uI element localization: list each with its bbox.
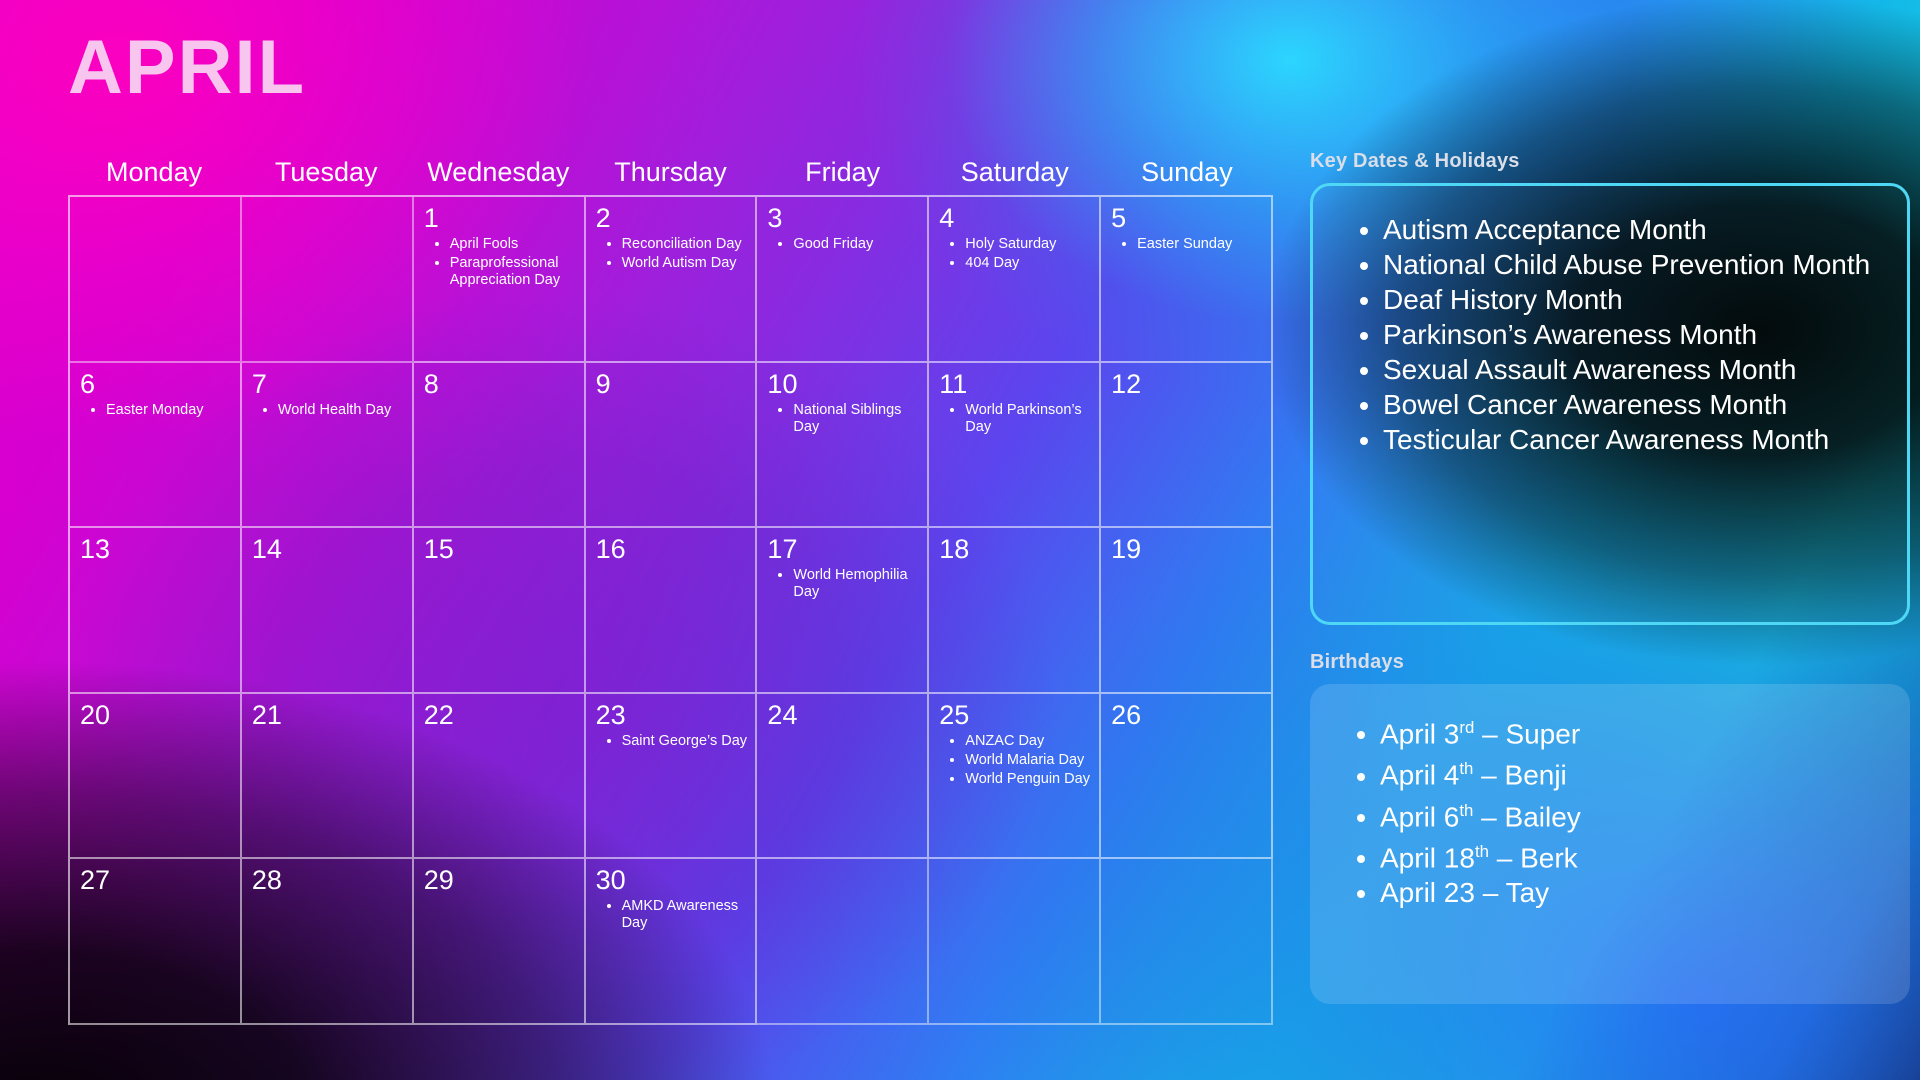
- day-number: 17: [767, 534, 919, 564]
- event-list: World Parkinson’s Day: [965, 401, 1091, 436]
- event-list: Reconciliation DayWorld Autism Day: [622, 235, 748, 272]
- day-number: 10: [767, 369, 919, 399]
- birthday-date: April 4: [1380, 760, 1459, 791]
- event-list: April FoolsParaprofessional Appreciation…: [450, 235, 576, 289]
- birthday-name: Bailey: [1505, 801, 1581, 832]
- calendar-cell[interactable]: 20: [70, 694, 242, 860]
- calendar-cell[interactable]: 19: [1101, 528, 1273, 694]
- day-of-week-header: Sunday: [1101, 155, 1273, 195]
- key-date-item: Autism Acceptance Month: [1383, 212, 1879, 247]
- key-date-item: Bowel Cancer Awareness Month: [1383, 387, 1879, 422]
- day-of-week-header: Thursday: [584, 155, 756, 195]
- day-number: 23: [596, 700, 748, 730]
- day-of-week-header: Wednesday: [412, 155, 584, 195]
- day-of-week-header: Tuesday: [240, 155, 412, 195]
- day-number: 29: [424, 865, 576, 895]
- day-number: 30: [596, 865, 748, 895]
- event-item[interactable]: World Parkinson’s Day: [965, 401, 1091, 436]
- day-number: 7: [252, 369, 404, 399]
- calendar-cell-empty[interactable]: [242, 197, 414, 363]
- calendar-cell[interactable]: 13: [70, 528, 242, 694]
- day-of-week-header: Monday: [68, 155, 240, 195]
- day-number: 19: [1111, 534, 1263, 564]
- calendar-cell[interactable]: 14: [242, 528, 414, 694]
- day-of-week-header: Friday: [757, 155, 929, 195]
- event-item[interactable]: Paraprofessional Appreciation Day: [450, 254, 576, 289]
- day-number: 18: [939, 534, 1091, 564]
- birthday-separator: –: [1475, 877, 1506, 908]
- birthday-item: April 4th – Benji: [1380, 751, 1882, 792]
- calendar-cell[interactable]: 5Easter Sunday: [1101, 197, 1273, 363]
- birthday-date: April 3: [1380, 718, 1459, 749]
- key-date-item: Sexual Assault Awareness Month: [1383, 352, 1879, 387]
- calendar-cell[interactable]: 23Saint George’s Day: [586, 694, 758, 860]
- calendar-cell[interactable]: 17World Hemophilia Day: [757, 528, 929, 694]
- calendar-cell[interactable]: 11World Parkinson’s Day: [929, 363, 1101, 529]
- day-number: 5: [1111, 203, 1263, 233]
- birthday-item: April 3rd – Super: [1380, 710, 1882, 751]
- calendar-cell-empty[interactable]: [929, 859, 1101, 1025]
- event-item[interactable]: World Malaria Day: [965, 751, 1091, 769]
- event-item[interactable]: World Penguin Day: [965, 770, 1091, 788]
- day-number: 4: [939, 203, 1091, 233]
- birthday-date-ordinal: th: [1459, 801, 1473, 820]
- birthday-date-ordinal: rd: [1459, 718, 1474, 737]
- day-of-week-header: Saturday: [929, 155, 1101, 195]
- event-item[interactable]: World Autism Day: [622, 254, 748, 272]
- calendar-cell[interactable]: 4Holy Saturday404 Day: [929, 197, 1101, 363]
- event-list: Easter Sunday: [1137, 235, 1263, 253]
- calendar-cell[interactable]: 22: [414, 694, 586, 860]
- birthday-separator: –: [1473, 760, 1504, 791]
- key-dates-panel: Key Dates & Holidays Autism Acceptance M…: [1310, 150, 1910, 625]
- event-item[interactable]: World Health Day: [278, 401, 404, 419]
- birthday-date-ordinal: th: [1475, 842, 1489, 861]
- day-number: 12: [1111, 369, 1263, 399]
- calendar-cell-empty[interactable]: [1101, 859, 1273, 1025]
- event-item[interactable]: Reconciliation Day: [622, 235, 748, 253]
- event-list: Holy Saturday404 Day: [965, 235, 1091, 272]
- event-item[interactable]: Holy Saturday: [965, 235, 1091, 253]
- calendar-cell[interactable]: 29: [414, 859, 586, 1025]
- birthday-name: Benji: [1505, 760, 1567, 791]
- key-dates-heading: Key Dates & Holidays: [1310, 150, 1910, 173]
- day-number: 24: [767, 700, 919, 730]
- calendar-cell[interactable]: 25ANZAC DayWorld Malaria DayWorld Pengui…: [929, 694, 1101, 860]
- day-number: 11: [939, 369, 1091, 399]
- birthday-separator: –: [1473, 801, 1504, 832]
- calendar-cell[interactable]: 9: [586, 363, 758, 529]
- sidebar: Key Dates & Holidays Autism Acceptance M…: [1310, 150, 1910, 1004]
- key-date-item: Deaf History Month: [1383, 282, 1879, 317]
- day-number: 3: [767, 203, 919, 233]
- event-item[interactable]: Easter Monday: [106, 401, 232, 419]
- day-number: 20: [80, 700, 232, 730]
- calendar-cell-empty[interactable]: [757, 859, 929, 1025]
- calendar-cell[interactable]: 6Easter Monday: [70, 363, 242, 529]
- birthday-name: Berk: [1520, 842, 1578, 873]
- event-item[interactable]: World Hemophilia Day: [793, 566, 919, 601]
- birthday-name: Tay: [1506, 877, 1550, 908]
- calendar-cell[interactable]: 16: [586, 528, 758, 694]
- calendar-cell[interactable]: 2Reconciliation DayWorld Autism Day: [586, 197, 758, 363]
- day-number: 15: [424, 534, 576, 564]
- birthday-date-ordinal: th: [1459, 759, 1473, 778]
- day-number: 22: [424, 700, 576, 730]
- event-list: National Siblings Day: [793, 401, 919, 436]
- calendar-cell[interactable]: 30AMKD Awareness Day: [586, 859, 758, 1025]
- day-number: 21: [252, 700, 404, 730]
- calendar-cell[interactable]: 26: [1101, 694, 1273, 860]
- birthday-item: April 6th – Bailey: [1380, 793, 1882, 834]
- calendar-grid-container: MondayTuesdayWednesdayThursdayFridaySatu…: [68, 155, 1273, 1025]
- day-number: 2: [596, 203, 748, 233]
- birthday-date: April 23: [1380, 877, 1475, 908]
- birthday-name: Super: [1505, 718, 1580, 749]
- day-number: 8: [424, 369, 576, 399]
- calendar-cell[interactable]: 28: [242, 859, 414, 1025]
- event-item[interactable]: Saint George’s Day: [622, 732, 748, 750]
- event-item[interactable]: Easter Sunday: [1137, 235, 1263, 253]
- key-date-item: National Child Abuse Prevention Month: [1383, 247, 1879, 282]
- birthday-item: April 23 – Tay: [1380, 875, 1882, 910]
- event-item[interactable]: Good Friday: [793, 235, 919, 253]
- event-item[interactable]: April Fools: [450, 235, 576, 253]
- birthday-date: April 6: [1380, 801, 1459, 832]
- calendar-cell[interactable]: 21: [242, 694, 414, 860]
- day-number: 27: [80, 865, 232, 895]
- calendar-cell-empty[interactable]: [70, 197, 242, 363]
- birthday-item: April 18th – Berk: [1380, 834, 1882, 875]
- birthday-separator: –: [1474, 718, 1505, 749]
- day-number: 14: [252, 534, 404, 564]
- day-number: 26: [1111, 700, 1263, 730]
- event-list: World Health Day: [278, 401, 404, 419]
- birthdays-box: April 3rd – SuperApril 4th – BenjiApril …: [1310, 684, 1910, 1004]
- day-number: 1: [424, 203, 576, 233]
- day-of-week-header-row: MondayTuesdayWednesdayThursdayFridaySatu…: [68, 155, 1273, 195]
- calendar-cell[interactable]: 18: [929, 528, 1101, 694]
- event-item[interactable]: 404 Day: [965, 254, 1091, 272]
- birthdays-list: April 3rd – SuperApril 4th – BenjiApril …: [1380, 710, 1882, 910]
- key-dates-box: Autism Acceptance MonthNational Child Ab…: [1310, 183, 1910, 625]
- calendar-cell[interactable]: 24: [757, 694, 929, 860]
- day-number: 16: [596, 534, 748, 564]
- birthdays-panel: Birthdays April 3rd – SuperApril 4th – B…: [1310, 651, 1910, 1004]
- calendar-cell[interactable]: 10National Siblings Day: [757, 363, 929, 529]
- event-list: Good Friday: [793, 235, 919, 253]
- event-list: AMKD Awareness Day: [622, 897, 748, 932]
- birthday-separator: –: [1489, 842, 1520, 873]
- birthdays-heading: Birthdays: [1310, 651, 1910, 674]
- calendar-cell[interactable]: 8: [414, 363, 586, 529]
- day-number: 13: [80, 534, 232, 564]
- calendar-grid: 1April FoolsParaprofessional Appreciatio…: [68, 195, 1273, 1025]
- calendar-cell[interactable]: 7World Health Day: [242, 363, 414, 529]
- event-item[interactable]: ANZAC Day: [965, 732, 1091, 750]
- event-item[interactable]: AMKD Awareness Day: [622, 897, 748, 932]
- calendar-cell[interactable]: 27: [70, 859, 242, 1025]
- calendar-cell[interactable]: 3Good Friday: [757, 197, 929, 363]
- day-number: 9: [596, 369, 748, 399]
- event-list: World Hemophilia Day: [793, 566, 919, 601]
- event-list: ANZAC DayWorld Malaria DayWorld Penguin …: [965, 732, 1091, 788]
- event-list: Saint George’s Day: [622, 732, 748, 750]
- calendar-cell[interactable]: 1April FoolsParaprofessional Appreciatio…: [414, 197, 586, 363]
- day-number: 28: [252, 865, 404, 895]
- calendar-cell[interactable]: 15: [414, 528, 586, 694]
- key-dates-list: Autism Acceptance MonthNational Child Ab…: [1383, 212, 1879, 457]
- event-list: Easter Monday: [106, 401, 232, 419]
- key-date-item: Testicular Cancer Awareness Month: [1383, 422, 1879, 457]
- month-title: APRIL: [68, 30, 306, 106]
- day-number: 25: [939, 700, 1091, 730]
- birthday-date: April 18: [1380, 842, 1475, 873]
- event-item[interactable]: National Siblings Day: [793, 401, 919, 436]
- calendar-cell[interactable]: 12: [1101, 363, 1273, 529]
- day-number: 6: [80, 369, 232, 399]
- key-date-item: Parkinson’s Awareness Month: [1383, 317, 1879, 352]
